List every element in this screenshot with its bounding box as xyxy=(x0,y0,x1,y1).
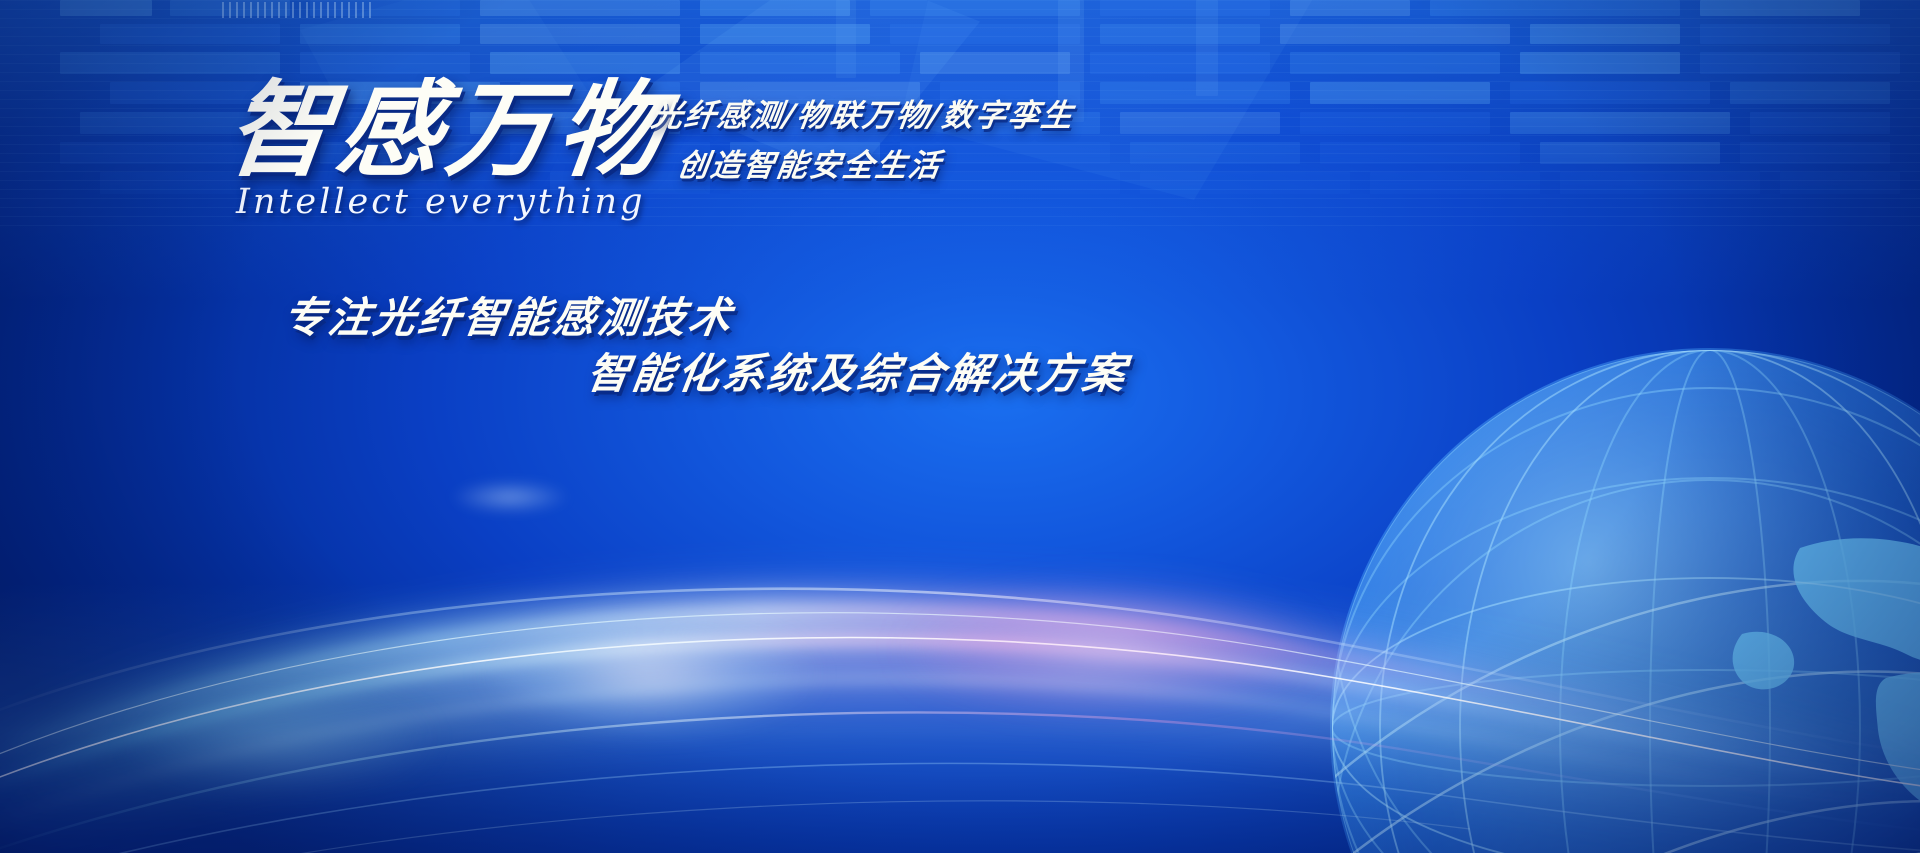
background-vignette xyxy=(0,0,1920,853)
banner-stage: 智感万物 Intellect everything 光纤感测/物联万物/数字孪生… xyxy=(0,0,1920,853)
